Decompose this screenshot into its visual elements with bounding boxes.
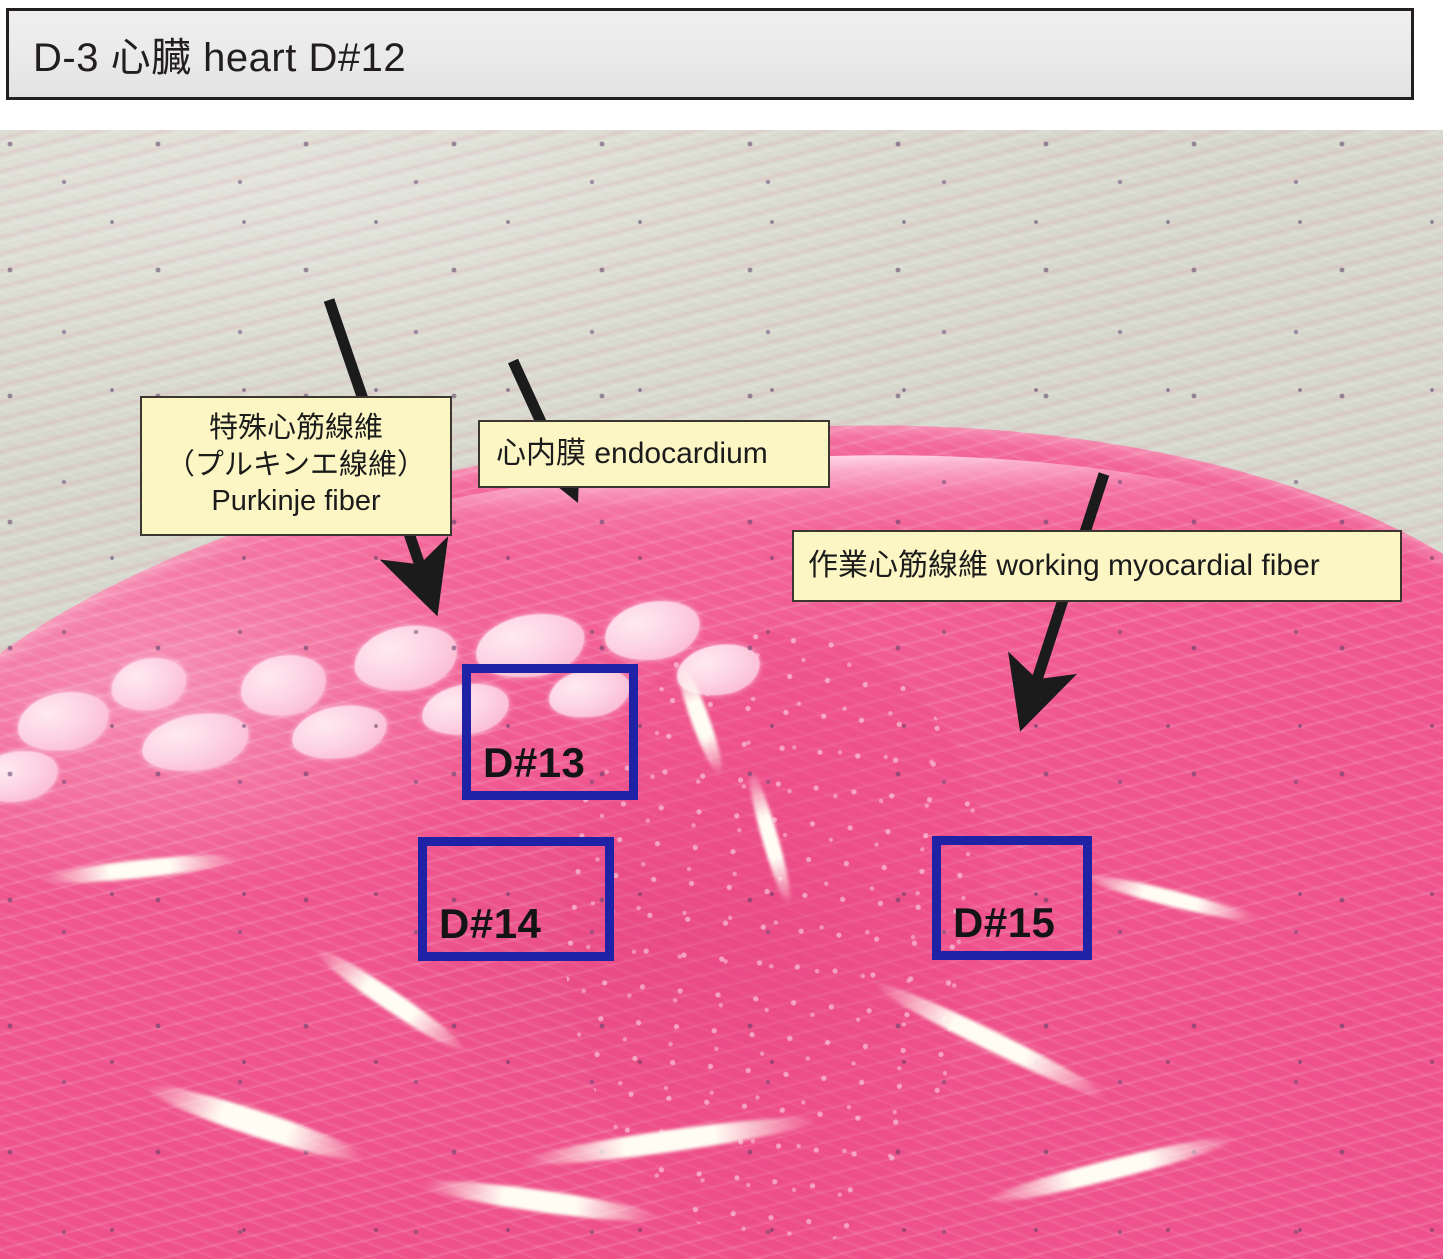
caption-bar: D-3 心臓 heart D#12 [6, 8, 1414, 100]
roi-label-d15: D#15 [953, 899, 1055, 947]
annotation-label-purkinje-fiber: 特殊心筋線維 （プルキンエ線維） Purkinje fiber [140, 396, 452, 536]
roi-box-d14: D#14 [418, 837, 614, 961]
micrograph-image: 特殊心筋線維 （プルキンエ線維） Purkinje fiber 心内膜 endo… [0, 130, 1443, 1259]
annotation-label-working-myocardial-fiber: 作業心筋線維 working myocardial fiber [792, 530, 1402, 602]
roi-label-d14: D#14 [439, 900, 541, 948]
roi-box-d13: D#13 [462, 664, 638, 800]
heart-tissue-section [0, 130, 1443, 1259]
roi-label-d13: D#13 [483, 739, 585, 787]
page-title: D-3 心臓 heart D#12 [33, 25, 406, 83]
roi-box-d15: D#15 [932, 836, 1092, 960]
annotation-label-endocardium: 心内膜 endocardium [478, 420, 830, 488]
